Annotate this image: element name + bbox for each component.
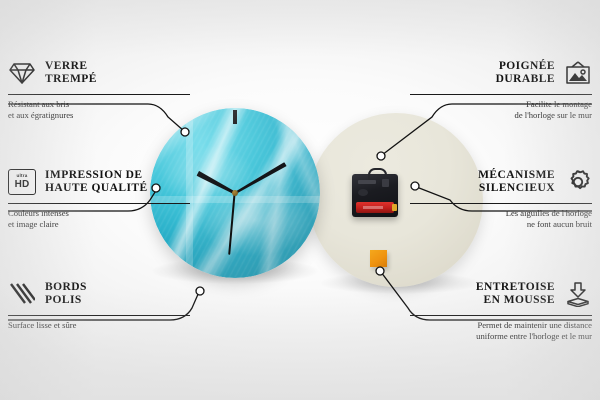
callout-title: VERRE TREMPÉ xyxy=(45,60,190,86)
mechanism-detail xyxy=(382,179,389,187)
callout-title: MÉCANISME SILENCIEUX xyxy=(410,169,555,195)
callout-subtitle: Facilite le montage de l'horloge sur le … xyxy=(410,99,592,121)
callout-subtitle: Résistant aux bris et aux égratignures xyxy=(8,99,190,121)
callout-poignee-durable: POIGNÉE DURABLE Facilite le montage de l… xyxy=(410,56,592,121)
callout-title: BORDS POLIS xyxy=(45,281,190,307)
gear-icon xyxy=(564,168,592,196)
callout-title: IMPRESSION DE HAUTE QUALITÉ xyxy=(45,169,190,195)
battery-terminal xyxy=(392,204,397,211)
callout-divider xyxy=(410,315,592,316)
mechanism-detail xyxy=(358,180,376,184)
callout-subtitle: Permet de maintenir une distance uniform… xyxy=(410,320,592,342)
ultra-hd-label-main: HD xyxy=(15,180,30,190)
picture-frame-hook-icon xyxy=(564,59,592,87)
clock-mechanism xyxy=(352,174,398,217)
foam-spacer-icon xyxy=(564,280,592,308)
diamond-icon xyxy=(8,59,36,87)
callout-divider xyxy=(410,203,592,204)
callout-mecanisme-silencieux: MÉCANISME SILENCIEUX Les aiguilles de l'… xyxy=(410,165,592,230)
mechanism-detail xyxy=(358,189,368,196)
callout-bords-polis: BORDS POLIS Surface lisse et sûre xyxy=(8,277,190,331)
callout-entretoise-en-mousse: ENTRETOISE EN MOUSSE Permet de maintenir… xyxy=(410,277,592,342)
callout-impression-haute-qualite: ultra HD IMPRESSION DE HAUTE QUALITÉ Cou… xyxy=(8,165,190,230)
battery xyxy=(356,202,394,213)
polished-edges-icon xyxy=(8,280,36,308)
foam-spacer xyxy=(370,250,387,267)
callout-subtitle: Surface lisse et sûre xyxy=(8,320,190,331)
ultra-hd-icon: ultra HD xyxy=(8,168,36,196)
callout-subtitle: Les aiguilles de l'horloge ne font aucun… xyxy=(410,208,592,230)
callout-divider xyxy=(8,94,190,95)
infographic-canvas: VERRE TREMPÉ Résistant aux bris et aux é… xyxy=(0,0,600,400)
callout-title: ENTRETOISE EN MOUSSE xyxy=(410,281,555,307)
battery-band xyxy=(363,206,383,209)
callout-title: POIGNÉE DURABLE xyxy=(410,60,555,86)
callout-subtitle: Couleurs intenses et image claire xyxy=(8,208,190,230)
callout-divider xyxy=(410,94,592,95)
callout-divider xyxy=(8,315,190,316)
leader-dot-left-3 xyxy=(196,287,204,295)
callout-verre-trempe: VERRE TREMPÉ Résistant aux bris et aux é… xyxy=(8,56,190,121)
callout-divider xyxy=(8,203,190,204)
